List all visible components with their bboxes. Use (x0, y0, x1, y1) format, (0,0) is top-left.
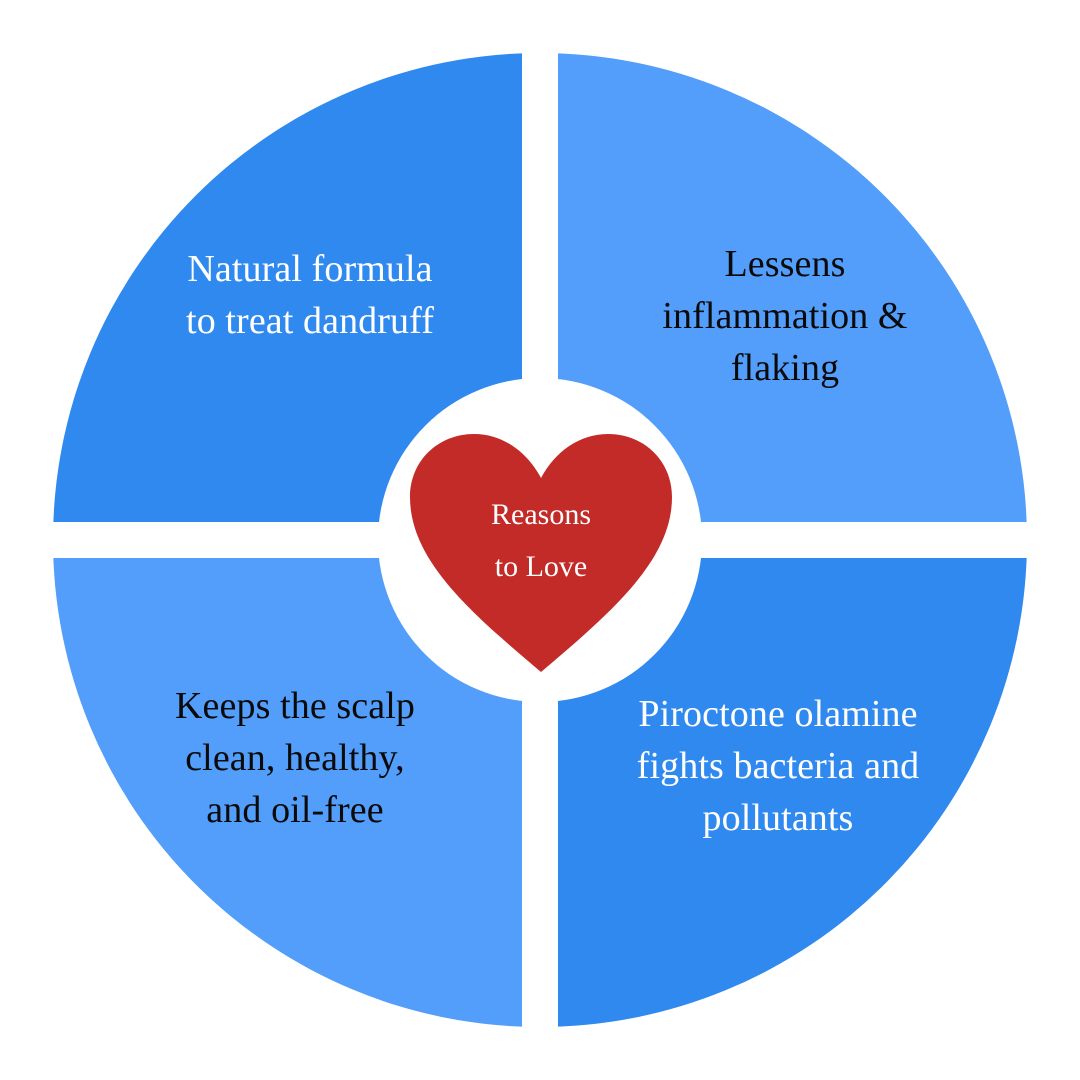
reasons-to-love-infographic: Natural formula to treat dandruff Lessen… (0, 0, 1080, 1080)
quadrant-label-bottom-right: Piroctone olamine fights bacteria and po… (578, 688, 978, 844)
quadrant-label-top-left: Natural formula to treat dandruff (110, 243, 510, 347)
quadrant-label-bottom-left: Keeps the scalp clean, healthy, and oil-… (90, 680, 500, 836)
quadrant-label-top-right: Lessens inflammation & flaking (600, 238, 970, 394)
heart-center-label: Reasons to Love (410, 489, 672, 593)
